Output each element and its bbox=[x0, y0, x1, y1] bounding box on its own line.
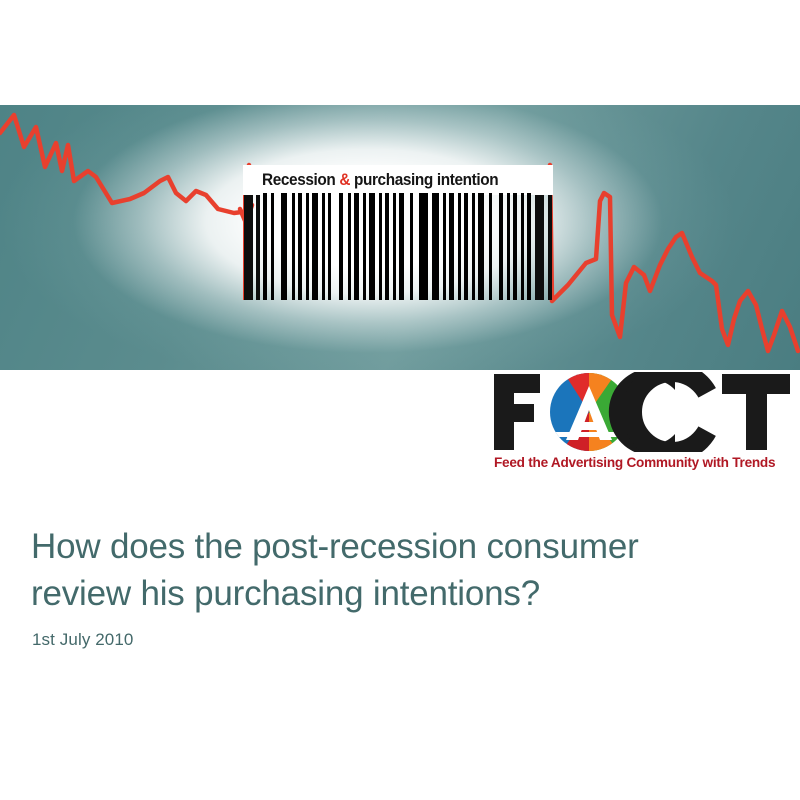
barcode-bars bbox=[243, 193, 553, 300]
page-title: How does the post-recession consumer rev… bbox=[31, 523, 761, 617]
chart-line-right bbox=[550, 165, 798, 351]
logo-letter-c bbox=[609, 372, 727, 452]
fact-logo-mark bbox=[492, 372, 792, 452]
fact-logo-tagline: Feed the Advertising Community with Tren… bbox=[494, 455, 792, 470]
logo-letter-f bbox=[494, 374, 540, 450]
hero-banner: Recession & purchasing intention bbox=[0, 105, 800, 370]
barcode-label-word-1: Recession bbox=[262, 171, 335, 189]
barcode-label-text: Recession & purchasing intention bbox=[262, 171, 498, 190]
logo-letter-t bbox=[722, 374, 790, 450]
barcode-label-word-rest: purchasing intention bbox=[354, 171, 498, 189]
barcode-label: Recession & purchasing intention bbox=[243, 165, 553, 195]
page-title-line-2: review his purchasing intentions? bbox=[31, 570, 761, 617]
fact-logo: Feed the Advertising Community with Tren… bbox=[492, 372, 792, 477]
presentation-date: 1st July 2010 bbox=[32, 630, 133, 650]
barcode-label-ampersand: & bbox=[339, 171, 350, 189]
barcode-graphic: Recession & purchasing intention bbox=[243, 165, 553, 300]
chart-line-left bbox=[0, 115, 252, 213]
page-title-line-1: How does the post-recession consumer bbox=[31, 523, 761, 570]
